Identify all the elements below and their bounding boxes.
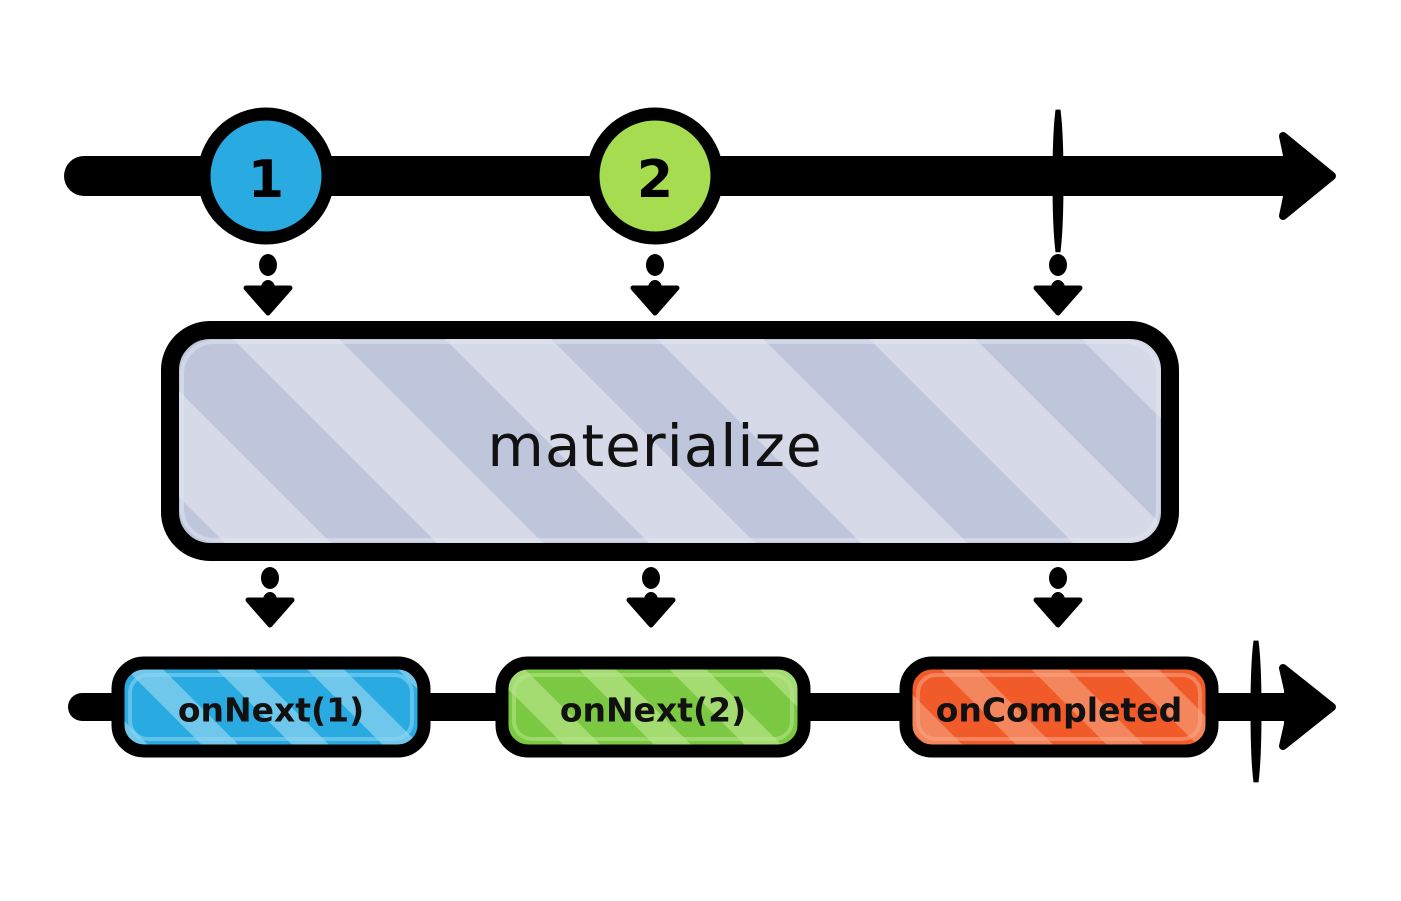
- pill-label: onNext(2): [560, 691, 746, 730]
- marble-label: 2: [637, 150, 673, 210]
- output-timeline-arrowhead: [1283, 668, 1332, 746]
- notification-pill-onnext-2[interactable]: onNext(2): [502, 663, 804, 751]
- dotted-down-arrow: [246, 254, 290, 313]
- operator-label: materialize: [487, 412, 822, 480]
- dotted-down-arrow: [633, 254, 677, 313]
- dotted-down-arrow: [1036, 567, 1080, 625]
- output-complete-marker: [1253, 641, 1259, 782]
- source-complete-marker: [1055, 110, 1061, 252]
- marble-label: 1: [248, 150, 284, 210]
- dotted-down-arrow: [629, 567, 673, 625]
- source-marble-1: 1: [204, 114, 328, 238]
- dotted-arrows-upper: [246, 254, 1080, 313]
- dotted-down-arrow: [1036, 254, 1080, 313]
- source-marble-2: 2: [593, 114, 717, 238]
- materialize-operator-box[interactable]: materialize: [170, 330, 1170, 552]
- diagram-svg: 1 2: [0, 0, 1401, 901]
- notification-pill-onnext-1[interactable]: onNext(1): [118, 663, 424, 751]
- marble-diagram-canvas: 1 2: [0, 0, 1401, 901]
- dotted-arrows-lower: [248, 567, 1080, 625]
- dotted-down-arrow: [248, 567, 292, 625]
- source-timeline-arrowhead: [1283, 136, 1332, 216]
- pill-label: onCompleted: [936, 691, 1183, 730]
- pill-label: onNext(1): [178, 691, 364, 730]
- notification-pill-oncompleted[interactable]: onCompleted: [906, 663, 1212, 751]
